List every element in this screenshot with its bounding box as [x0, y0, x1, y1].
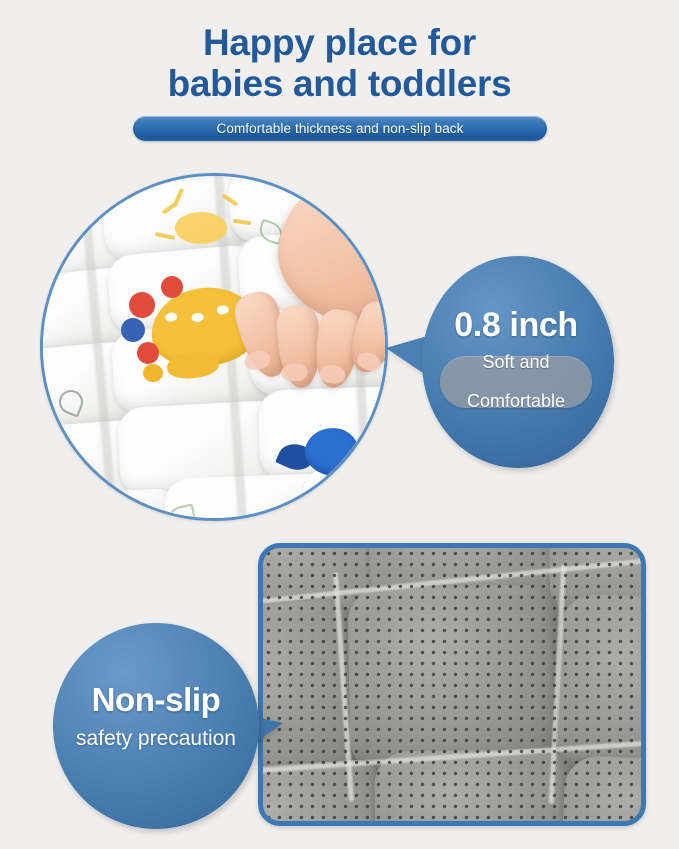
subtitle-banner: Comfortable thickness and non-slip back [133, 116, 547, 141]
lion-mane-piece [161, 276, 183, 298]
nonslip-photo [258, 543, 646, 826]
thickness-value: 0.8 inch [418, 306, 614, 345]
header: Happy place for babies and toddlers [0, 22, 679, 105]
lion-mane-piece [129, 292, 155, 318]
pill-line-1: Soft and [467, 353, 565, 372]
infographic-page: Happy place for babies and toddlers Comf… [0, 0, 679, 849]
thickness-photo [40, 173, 388, 521]
page-title-line-2: babies and toddlers [0, 63, 679, 104]
pill-line-2: Comfortable [467, 392, 565, 411]
nonslip-callout: Non-slip safety precaution [53, 623, 267, 835]
lion-mane-piece [143, 364, 163, 382]
callout-bubble [53, 623, 259, 829]
quilted-mattress-scene [43, 176, 385, 518]
lion-mane-piece [137, 342, 159, 364]
sun-print [175, 212, 227, 244]
soft-comfortable-label: Soft andComfortable [467, 353, 565, 411]
nonslip-subline: safety precaution [53, 727, 259, 751]
nonslip-headline: Non-slip [53, 681, 259, 719]
lion-mane-piece [121, 318, 145, 342]
nonslip-dot-texture [263, 548, 641, 821]
page-title: Happy place for babies and toddlers [0, 22, 679, 105]
nonslip-backing-scene [263, 548, 641, 821]
page-title-line-1: Happy place for [0, 22, 679, 63]
soft-comfortable-pill: Soft andComfortable [440, 356, 592, 408]
hand-pressing [207, 176, 385, 412]
subtitle-text: Comfortable thickness and non-slip back [216, 121, 463, 136]
thickness-callout: 0.8 inch Soft andComfortable [418, 254, 614, 470]
